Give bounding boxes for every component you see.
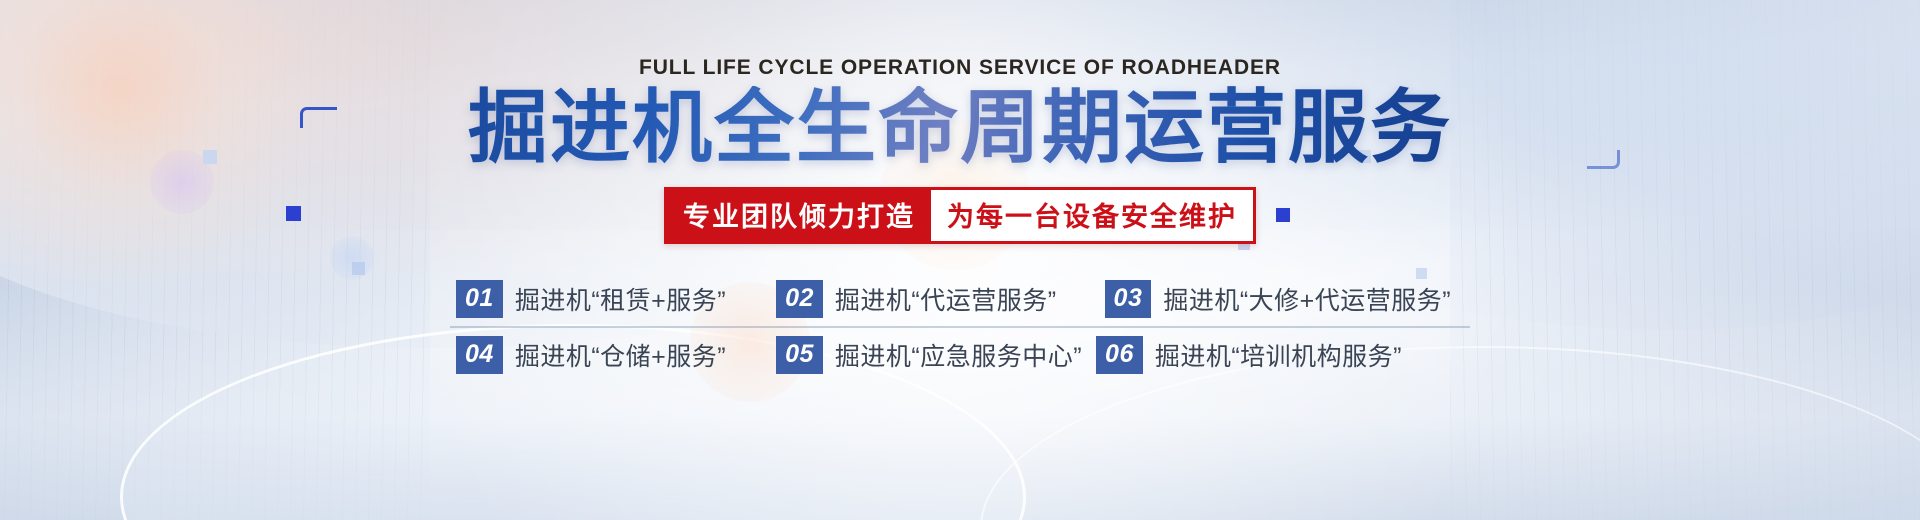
service-number-badge: 01 [456, 280, 503, 318]
service-number-badge: 06 [1096, 336, 1143, 374]
service-number-badge: 05 [776, 336, 823, 374]
main-headline: 掘进机全生命周期运营服务 [468, 86, 1452, 171]
english-subtitle: FULL LIFE CYCLE OPERATION SERVICE OF ROA… [639, 56, 1281, 80]
tagline-primary: 专业团队倾力打造 [667, 190, 931, 241]
service-number-badge: 02 [776, 280, 823, 318]
service-label: 掘进机“仓储+服务” [515, 337, 726, 373]
banner-content: FULL LIFE CYCLE OPERATION SERVICE OF ROA… [0, 0, 1920, 520]
service-label: 掘进机“培训机构服务” [1155, 337, 1402, 373]
tagline-ribbon: 专业团队倾力打造 为每一台设备安全维护 [664, 187, 1256, 244]
service-item-02[interactable]: 02 掘进机“代运营服务” [776, 280, 1056, 318]
service-item-05[interactable]: 05 掘进机“应急服务中心” [776, 336, 1082, 374]
tagline-secondary: 为每一台设备安全维护 [931, 190, 1253, 241]
service-item-01[interactable]: 01 掘进机“租赁+服务” [456, 280, 726, 318]
service-label: 掘进机“租赁+服务” [515, 281, 726, 317]
promotional-banner: FULL LIFE CYCLE OPERATION SERVICE OF ROA… [0, 0, 1920, 520]
service-row-top: 01 掘进机“租赁+服务” 02 掘进机“代运营服务” 03 掘进机“大修+代运… [450, 272, 1470, 328]
service-item-04[interactable]: 04 掘进机“仓储+服务” [456, 336, 726, 374]
service-label: 掘进机“大修+代运营服务” [1163, 281, 1451, 317]
service-number-badge: 03 [1105, 280, 1152, 318]
service-number-badge: 04 [456, 336, 503, 374]
service-list: 01 掘进机“租赁+服务” 02 掘进机“代运营服务” 03 掘进机“大修+代运… [450, 272, 1470, 382]
service-item-03[interactable]: 03 掘进机“大修+代运营服务” [1105, 280, 1452, 318]
service-row-bottom: 04 掘进机“仓储+服务” 05 掘进机“应急服务中心” 06 掘进机“培训机构… [450, 328, 1470, 382]
service-label: 掘进机“代运营服务” [835, 281, 1057, 317]
service-label: 掘进机“应急服务中心” [835, 337, 1082, 373]
service-item-06[interactable]: 06 掘进机“培训机构服务” [1096, 336, 1402, 374]
